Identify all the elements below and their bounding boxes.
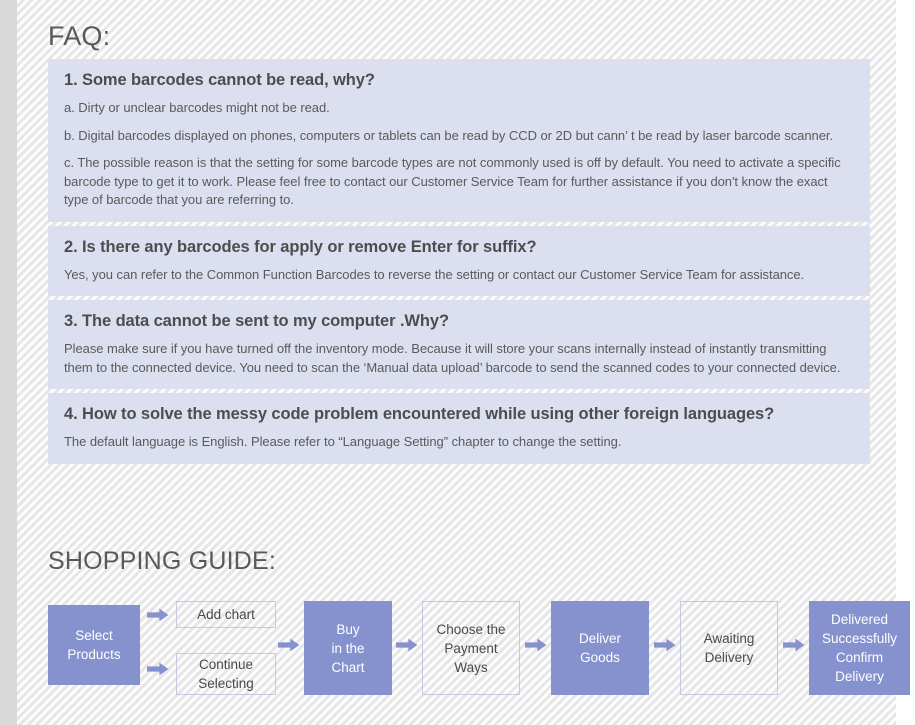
faq-question: 1. Some barcodes cannot be read, why?: [64, 70, 854, 91]
shopping-guide-heading: SHOPPING GUIDE:: [48, 546, 276, 576]
right-arrow-icon: [525, 638, 547, 652]
flow-node-line: Confirm: [836, 648, 883, 667]
faq-panel: 1. Some barcodes cannot be read, why? a.…: [48, 59, 870, 464]
faq-answer: The default language is English. Please …: [64, 433, 854, 452]
right-arrow-icon: [396, 638, 418, 652]
page-root: FAQ: 1. Some barcodes cannot be read, wh…: [0, 0, 915, 725]
right-arrow-icon: [783, 638, 805, 652]
flow-node-awaiting-delivery: Awaiting Delivery: [680, 601, 778, 695]
flow-node-line: Chart: [331, 658, 364, 677]
flow-node-line: Buy: [336, 620, 359, 639]
faq-question: 4. How to solve the messy code problem e…: [64, 404, 854, 425]
faq-question: 2. Is there any barcodes for apply or re…: [64, 237, 854, 258]
flow-node-delivered-confirm: Delivered Successfully Confirm Delivery: [809, 601, 910, 695]
faq-item-2: 2. Is there any barcodes for apply or re…: [48, 226, 870, 297]
flow-node-line: in the: [331, 639, 364, 658]
right-arrow-icon: [278, 638, 300, 652]
faq-answer: c. The possible reason is that the setti…: [64, 154, 854, 210]
shopping-guide-flow: Select Products Add chart Continue Selec…: [48, 596, 870, 694]
flow-node-line: Goods: [580, 648, 620, 667]
flow-node-line: Delivery: [705, 648, 754, 667]
flow-node-line: Payment: [444, 639, 497, 658]
faq-section-heading: FAQ:: [48, 20, 110, 52]
left-gutter-strip: [0, 0, 17, 725]
flow-node-line: Selecting: [198, 674, 254, 693]
flow-node-line: Select: [75, 626, 113, 645]
flow-node-line: Products: [67, 645, 120, 664]
faq-answer: b. Digital barcodes displayed on phones,…: [64, 127, 854, 146]
flow-node-choose-payment-ways: Choose the Payment Ways: [422, 601, 520, 695]
flow-node-line: Successfully: [822, 629, 897, 648]
faq-answer: a. Dirty or unclear barcodes might not b…: [64, 99, 854, 118]
right-arrow-icon: [147, 608, 169, 622]
flow-node-line: Delivered: [831, 610, 888, 629]
flow-node-line: Continue: [199, 655, 253, 674]
flow-node-deliver-goods: Deliver Goods: [551, 601, 649, 695]
faq-answer: Yes, you can refer to the Common Functio…: [64, 266, 854, 285]
faq-item-3: 3. The data cannot be sent to my compute…: [48, 300, 870, 389]
right-arrow-icon: [147, 662, 169, 676]
flow-node-continue-selecting: Continue Selecting: [176, 653, 276, 695]
flow-node-select-products: Select Products: [48, 605, 140, 685]
flow-node-line: Delivery: [835, 667, 884, 686]
flow-node-line: Add chart: [197, 605, 255, 624]
right-arrow-icon: [654, 638, 676, 652]
flow-node-line: Ways: [454, 658, 487, 677]
flow-node-buy-in-the-chart: Buy in the Chart: [304, 601, 392, 695]
faq-answer: Please make sure if you have turned off …: [64, 340, 854, 377]
flow-node-line: Choose the: [436, 620, 505, 639]
flow-node-line: Awaiting: [704, 629, 755, 648]
faq-item-1: 1. Some barcodes cannot be read, why? a.…: [48, 59, 870, 222]
faq-item-4: 4. How to solve the messy code problem e…: [48, 393, 870, 464]
flow-node-add-chart: Add chart: [176, 601, 276, 628]
faq-question: 3. The data cannot be sent to my compute…: [64, 311, 854, 332]
flow-node-line: Deliver: [579, 629, 621, 648]
